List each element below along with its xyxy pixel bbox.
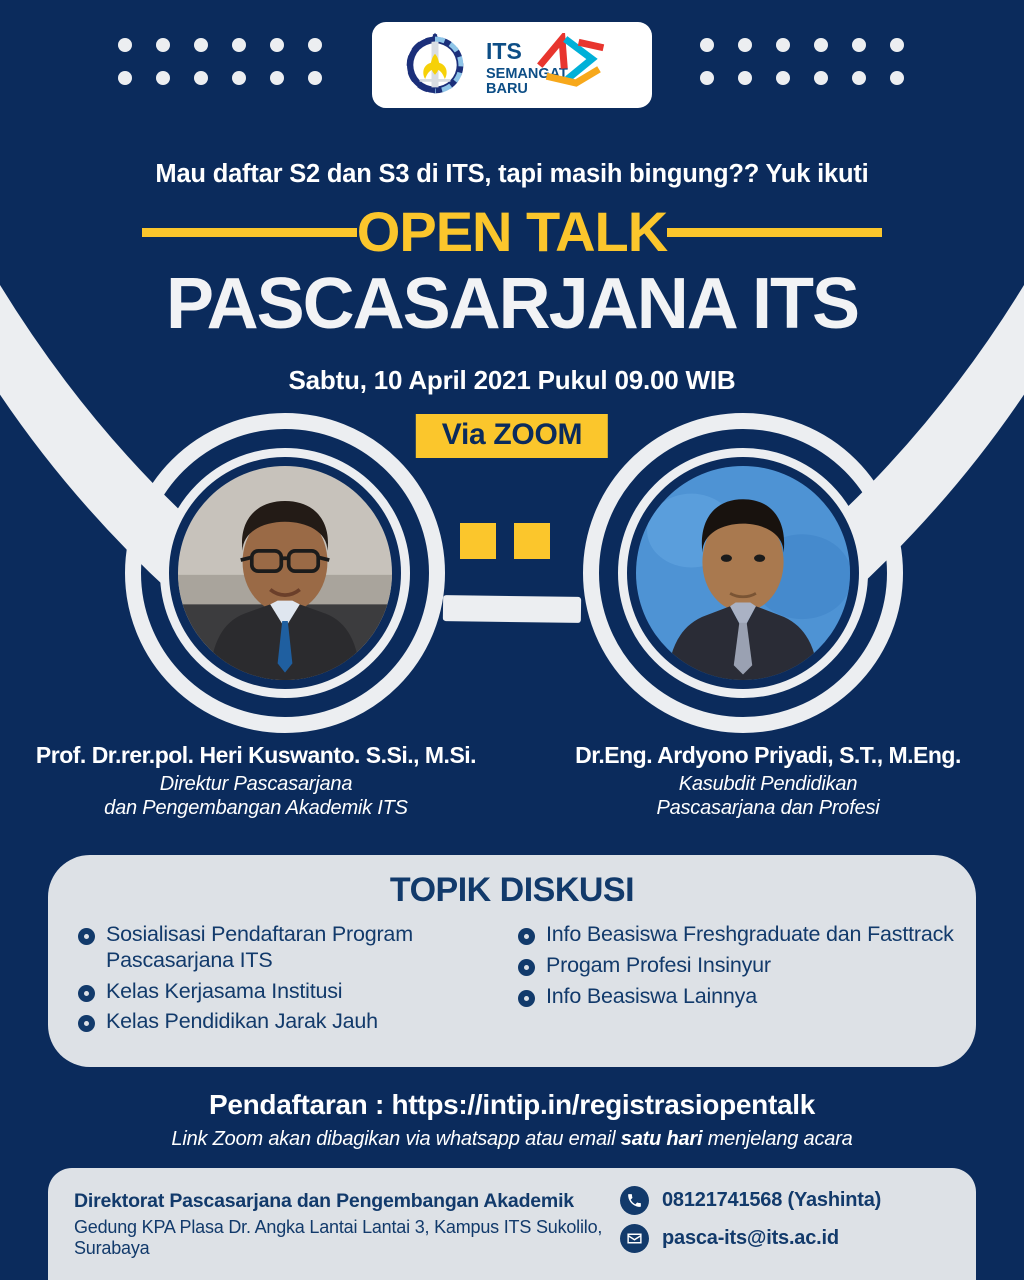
footer-panel: Direktorat Pascasarjana dan Pengembangan…	[48, 1168, 976, 1280]
accent-band	[443, 595, 581, 623]
its-semangat-baru-logo: ITS SEMANGAT BARU	[484, 33, 624, 97]
speaker-photo-1	[160, 448, 410, 698]
speaker-role-line1: Kasubdit Pendidikan	[512, 772, 1024, 796]
footer-email: pasca-its@its.ac.id	[662, 1227, 839, 1250]
topic-label: Info Beasiswa Freshgraduate dan Fasttrac…	[546, 922, 954, 948]
list-item: Kelas Pendidikan Jarak Jauh	[78, 1009, 518, 1035]
speaker-role: Kasubdit Pendidikan Pascasarjana dan Pro…	[512, 772, 1024, 821]
dot	[776, 71, 790, 85]
topic-label: Info Beasiswa Lainnya	[546, 984, 757, 1010]
dot	[738, 38, 752, 52]
event-datetime: Sabtu, 10 April 2021 Pukul 09.00 WIB	[0, 365, 1024, 396]
speaker-name: Dr.Eng. Ardyono Priyadi, S.T., M.Eng.	[512, 742, 1024, 769]
dot	[270, 71, 284, 85]
note-after: menjelang acara	[702, 1128, 852, 1150]
registration-label: Pendaftaran :	[209, 1089, 384, 1120]
dot	[194, 38, 208, 52]
speaker-photo-2	[618, 448, 868, 698]
avatar	[636, 466, 850, 680]
bullet-icon	[518, 990, 535, 1007]
topics-title: TOPIK DISKUSI	[48, 855, 976, 910]
speaker-role-line2: Pascasarjana dan Profesi	[512, 796, 1024, 820]
speaker-role-line1: Direktur Pascasarjana	[0, 772, 512, 796]
speaker-caption-2: Dr.Eng. Ardyono Priyadi, S.T., M.Eng. Ka…	[512, 742, 1024, 821]
dot	[700, 38, 714, 52]
dot	[700, 71, 714, 85]
contact-email-row[interactable]: pasca-its@its.ac.id	[620, 1224, 950, 1253]
footer-address: Gedung KPA Plasa Dr. Angka Lantai Lantai…	[74, 1217, 620, 1259]
note-before: Link Zoom akan dibagikan via whatsapp at…	[171, 1128, 620, 1150]
speaker-2-portrait	[636, 466, 850, 680]
platform-badge: Via ZOOM	[416, 414, 608, 458]
speaker-caption-1: Prof. Dr.rer.pol. Heri Kuswanto. S.Si., …	[0, 742, 512, 821]
dot	[814, 71, 828, 85]
list-item: Info Beasiswa Lainnya	[518, 984, 958, 1010]
dot	[738, 71, 752, 85]
list-item: Progam Profesi Insinyur	[518, 953, 958, 979]
dot	[194, 71, 208, 85]
dot-pattern-left	[118, 38, 346, 104]
list-item: Info Beasiswa Freshgraduate dan Fasttrac…	[518, 922, 958, 948]
envelope-icon	[620, 1224, 649, 1253]
dot	[852, 71, 866, 85]
speaker-1-portrait	[178, 466, 392, 680]
footer-phone: 08121741568 (Yashinta)	[662, 1189, 881, 1212]
speaker-name: Prof. Dr.rer.pol. Heri Kuswanto. S.Si., …	[0, 742, 512, 769]
list-item: Sosialisasi Pendaftaran Program Pascasar…	[78, 922, 518, 974]
topics-column-left: Sosialisasi Pendaftaran Program Pascasar…	[78, 922, 518, 1040]
bullet-icon	[78, 928, 95, 945]
its-emblem-icon	[400, 30, 470, 100]
dot	[156, 71, 170, 85]
accent-square-1	[460, 523, 496, 559]
registration-url[interactable]: https://intip.in/registrasiopentalk	[391, 1089, 815, 1120]
avatar	[178, 466, 392, 680]
page-kicker: Mau daftar S2 dan S3 di ITS, tapi masih …	[0, 160, 1024, 189]
topic-label: Sosialisasi Pendaftaran Program Pascasar…	[106, 922, 518, 974]
dot	[156, 38, 170, 52]
logo-baru-text: BARU	[486, 81, 528, 97]
footer-org-block: Direktorat Pascasarjana dan Pengembangan…	[74, 1190, 620, 1259]
note-emphasis: satu hari	[621, 1128, 703, 1150]
topics-columns: Sosialisasi Pendaftaran Program Pascasar…	[48, 910, 976, 1040]
registration-line: Pendaftaran : https://intip.in/registras…	[0, 1089, 1024, 1121]
dot	[232, 71, 246, 85]
dot	[118, 38, 132, 52]
registration-block: Pendaftaran : https://intip.in/registras…	[0, 1089, 1024, 1151]
speaker-role-line2: dan Pengembangan Akademik ITS	[0, 796, 512, 820]
logo-its-text: ITS	[486, 38, 522, 64]
rule-left	[142, 228, 357, 237]
accent-square-2	[514, 523, 550, 559]
page-title: PASCASARJANA ITS	[0, 268, 1024, 340]
dot	[776, 38, 790, 52]
open-talk-title: OPEN TALK	[355, 204, 669, 260]
topic-label: Progam Profesi Insinyur	[546, 953, 771, 979]
bullet-icon	[78, 985, 95, 1002]
dot	[814, 38, 828, 52]
topic-label: Kelas Pendidikan Jarak Jauh	[106, 1009, 378, 1035]
open-talk-row: OPEN TALK	[0, 204, 1024, 260]
dot	[270, 38, 284, 52]
dot	[232, 38, 246, 52]
topics-panel: TOPIK DISKUSI Sosialisasi Pendaftaran Pr…	[48, 855, 976, 1067]
footer-org: Direktorat Pascasarjana dan Pengembangan…	[74, 1190, 620, 1213]
decorative-arcs	[0, 0, 1024, 1280]
bullet-icon	[518, 959, 535, 976]
speaker-role: Direktur Pascasarjana dan Pengembangan A…	[0, 772, 512, 821]
dot	[852, 38, 866, 52]
phone-icon	[620, 1186, 649, 1215]
topic-label: Kelas Kerjasama Institusi	[106, 979, 342, 1005]
bullet-icon	[78, 1015, 95, 1032]
registration-note: Link Zoom akan dibagikan via whatsapp at…	[0, 1128, 1024, 1151]
list-item: Kelas Kerjasama Institusi	[78, 979, 518, 1005]
bullet-icon	[518, 928, 535, 945]
dot	[890, 38, 904, 52]
dot	[308, 71, 322, 85]
rule-right	[667, 228, 882, 237]
poster-canvas: ITS SEMANGAT BARU Mau daftar S2 dan S3 d…	[0, 0, 1024, 1280]
dot	[118, 71, 132, 85]
speaker-captions: Prof. Dr.rer.pol. Heri Kuswanto. S.Si., …	[0, 742, 1024, 821]
dot	[308, 38, 322, 52]
dot-pattern-right	[700, 38, 928, 104]
logo-box: ITS SEMANGAT BARU	[372, 22, 652, 108]
dot	[890, 71, 904, 85]
footer-contact-block: 08121741568 (Yashinta) pasca-its@its.ac.…	[620, 1186, 950, 1262]
contact-phone-row[interactable]: 08121741568 (Yashinta)	[620, 1186, 950, 1215]
topics-column-right: Info Beasiswa Freshgraduate dan Fasttrac…	[518, 922, 958, 1040]
